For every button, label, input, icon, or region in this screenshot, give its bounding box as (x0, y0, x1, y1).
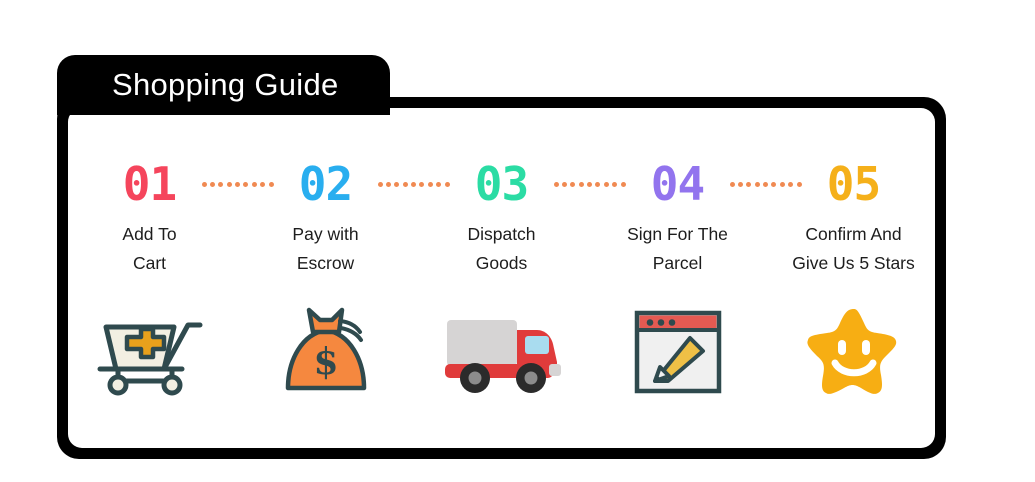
sign-document-pencil-icon (633, 309, 723, 395)
step-label-4-line2: Parcel (590, 249, 766, 278)
step-label-5-line2: Give Us 5 Stars (766, 249, 936, 278)
step-icon-2: $ (238, 300, 414, 404)
step-number-01: 01 (98, 158, 202, 210)
step-label-2: Pay with Escrow (238, 220, 414, 278)
guide-frame: 01 02 03 04 05 Add To Cart Pay with Escr… (57, 97, 946, 459)
step-icon-1 (68, 300, 238, 404)
step-label-1-line1: Add To (68, 220, 238, 249)
smiling-star-icon (807, 306, 901, 398)
step-numbers-row: 01 02 03 04 05 (68, 158, 935, 210)
step-number-02: 02 (274, 158, 378, 210)
header-tab: Shopping Guide (57, 55, 390, 115)
step-label-1: Add To Cart (68, 220, 238, 278)
guide-inner-panel: 01 02 03 04 05 Add To Cart Pay with Escr… (68, 108, 935, 448)
step-number-04: 04 (626, 158, 730, 210)
step-label-3-line2: Goods (414, 249, 590, 278)
shopping-cart-icon (96, 307, 204, 397)
step-icons-row: $ (68, 300, 935, 404)
step-label-2-line2: Escrow (238, 249, 414, 278)
connector-2-3 (378, 181, 450, 187)
step-number-05: 05 (802, 158, 906, 210)
step-labels-row: Add To Cart Pay with Escrow Dispatch Goo… (68, 220, 935, 278)
money-bag-icon: $ (280, 304, 372, 400)
step-icon-3 (414, 300, 590, 404)
step-label-3: Dispatch Goods (414, 220, 590, 278)
delivery-truck-icon (441, 306, 563, 398)
step-label-3-line1: Dispatch (414, 220, 590, 249)
step-label-4: Sign For The Parcel (590, 220, 766, 278)
connector-4-5 (730, 181, 802, 187)
connector-1-2 (202, 181, 274, 187)
step-label-4-line1: Sign For The (590, 220, 766, 249)
page-title: Shopping Guide (112, 63, 339, 107)
step-label-5-line1: Confirm And (766, 220, 936, 249)
svg-text:$: $ (313, 341, 338, 383)
step-label-1-line2: Cart (68, 249, 238, 278)
steps-container: 01 02 03 04 05 Add To Cart Pay with Escr… (68, 108, 935, 448)
step-icon-5 (766, 300, 936, 404)
step-label-5: Confirm And Give Us 5 Stars (766, 220, 936, 278)
connector-3-4 (554, 181, 626, 187)
step-icon-4 (590, 300, 766, 404)
step-label-2-line1: Pay with (238, 220, 414, 249)
step-number-03: 03 (450, 158, 554, 210)
